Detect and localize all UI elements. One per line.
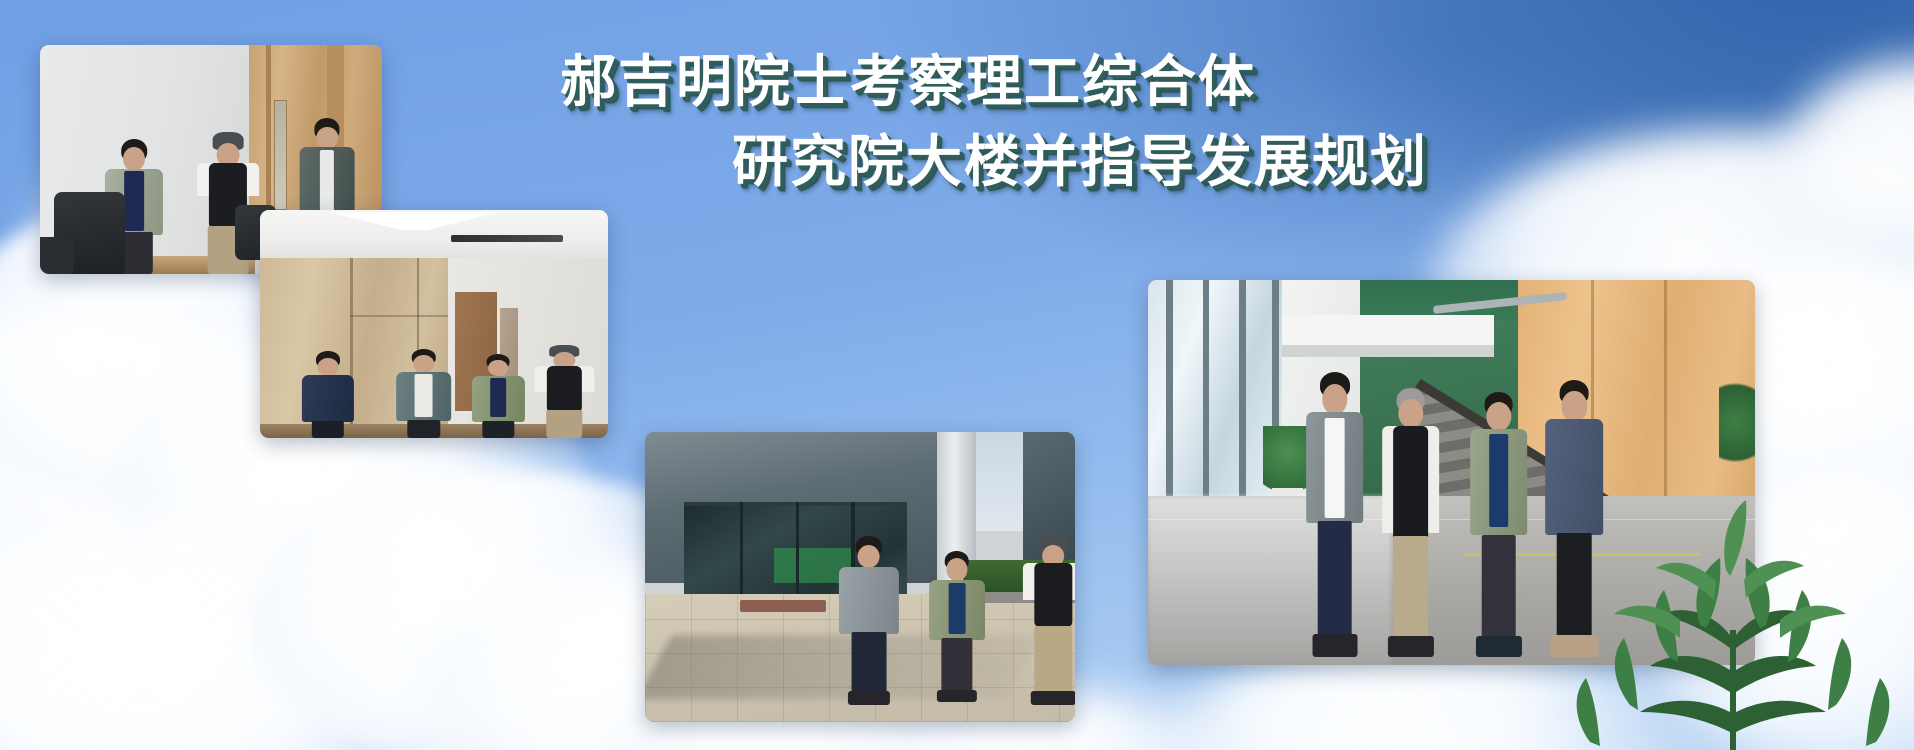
news-banner: 郝吉明院士考察理工综合体 研究院大楼并指导发展规划 bbox=[0, 0, 1914, 750]
banner-title: 郝吉明院士考察理工综合体 研究院大楼并指导发展规划 bbox=[560, 42, 1560, 202]
person-figure bbox=[302, 351, 354, 438]
person-figure bbox=[1382, 388, 1440, 658]
photo-outdoor-plaza-scene bbox=[645, 432, 1075, 722]
person-figure bbox=[535, 345, 594, 438]
person-figure bbox=[1023, 536, 1075, 704]
person-figure bbox=[839, 536, 899, 704]
photo-corridor-group bbox=[260, 210, 608, 438]
person-figure bbox=[1546, 380, 1604, 657]
person-figure bbox=[396, 349, 452, 438]
person-figure bbox=[472, 354, 524, 438]
person-figure bbox=[929, 551, 985, 702]
photo-corridor-group-scene bbox=[260, 210, 608, 438]
person-figure bbox=[1470, 392, 1528, 658]
banner-title-line2: 研究院大楼并指导发展规划 bbox=[560, 122, 1560, 202]
photo-lobby-group-scene bbox=[1148, 280, 1755, 665]
photo-lobby-group bbox=[1148, 280, 1755, 665]
photo-outdoor-plaza bbox=[645, 432, 1075, 722]
banner-title-line1: 郝吉明院士考察理工综合体 bbox=[560, 42, 1560, 122]
person-figure bbox=[1306, 372, 1364, 657]
